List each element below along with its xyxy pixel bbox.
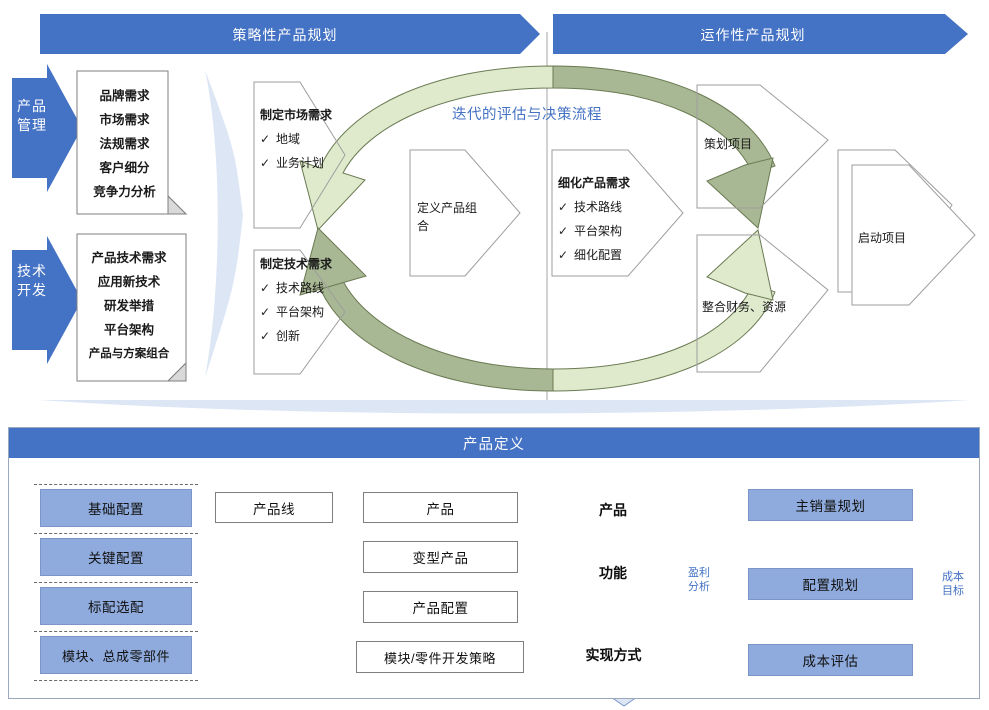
chevron-define-market-req-item-2: ✓业务计划 <box>260 151 332 175</box>
check-icon: ✓ <box>260 127 276 151</box>
chevron-launch-project-text: 启动项目 <box>858 229 906 247</box>
check-icon: ✓ <box>260 151 276 175</box>
chevron-detail-product-req-heading: 细化产品需求 <box>558 176 630 190</box>
check-icon: ✓ <box>558 219 574 243</box>
config-box-standard-optional[interactable]: 标配选配 <box>40 587 192 625</box>
cycle-side-label-profit-line-1: 盈利 <box>682 566 716 580</box>
check-icon: ✓ <box>558 243 574 267</box>
check-icon: ✓ <box>260 276 276 300</box>
tree-box-module-strategy-label: 模块/零件开发策略 <box>384 648 496 667</box>
note-card-1-line-3: 法规需求 <box>77 132 172 156</box>
tree-box-variant-product[interactable]: 变型产品 <box>363 541 518 573</box>
note-card-2-line-2: 应用新技术 <box>73 270 185 294</box>
chevron-define-market-req-item-1: ✓地域 <box>260 127 332 151</box>
product-definition-title: 产品定义 <box>463 433 525 454</box>
chevron-launch-project-back <box>838 150 952 292</box>
cycle-box-cost-assessment[interactable]: 成本评估 <box>748 644 913 676</box>
cycle-box-config-plan[interactable]: 配置规划 <box>748 568 913 600</box>
tree-box-product-config-label: 产品配置 <box>413 597 469 617</box>
cycle-side-label-cost-target-line-1: 成本 <box>936 570 970 584</box>
chevron-define-tech-req-heading: 制定技术需求 <box>260 257 332 271</box>
config-box-modules[interactable]: 模块、总成零部件 <box>40 636 192 674</box>
note-card-1-line-4: 客户细分 <box>77 156 172 180</box>
tree-box-product-config[interactable]: 产品配置 <box>363 591 518 623</box>
note-card-2-line-3: 研发举措 <box>73 294 185 318</box>
cycle-side-label-cost-target-line-2: 目标 <box>936 584 970 598</box>
funnel-label-function: 功能 <box>564 563 662 583</box>
cycle-box-sales-volume-plan[interactable]: 主销量规划 <box>748 489 913 521</box>
chevron-define-portfolio-line-2: 合 <box>417 217 477 235</box>
tree-box-product-line[interactable]: 产品线 <box>215 492 333 523</box>
tree-box-product-label: 产品 <box>427 498 455 518</box>
chevron-integrate-finance-text: 整合财务、资源 <box>702 298 786 316</box>
funnel-label-product: 产品 <box>564 500 662 520</box>
config-box-key-label: 关键配置 <box>88 547 144 567</box>
banner-label-operational: 运作性产品规划 <box>553 25 953 45</box>
chevron-detail-product-req-item-1: ✓技术路线 <box>558 195 630 219</box>
chevron-detail-product-req-text: 细化产品需求 ✓技术路线 ✓平台架构 ✓细化配置 <box>558 171 630 267</box>
section-separator-lens <box>40 400 970 414</box>
cycle-box-config-plan-label: 配置规划 <box>803 574 859 594</box>
chevron-define-tech-req-item-3: ✓创新 <box>260 324 332 348</box>
cycle-side-label-cost-target: 成本 目标 <box>936 570 970 598</box>
config-divider-3 <box>34 631 198 632</box>
funnel-label-realization: 实现方式 <box>556 645 671 665</box>
config-divider-top <box>34 484 198 485</box>
chevron-define-tech-req-item-1: ✓技术路线 <box>260 276 332 300</box>
chevron-detail-product-req-item-2: ✓平台架构 <box>558 219 630 243</box>
tree-box-product[interactable]: 产品 <box>363 492 518 523</box>
cycle-box-cost-assessment-label: 成本评估 <box>803 650 859 670</box>
note-card-2-line-5: 产品与方案组合 <box>68 342 190 366</box>
config-divider-bottom <box>34 680 198 681</box>
tree-box-module-strategy[interactable]: 模块/零件开发策略 <box>356 641 524 673</box>
chevron-define-market-req-text: 制定市场需求 ✓地域 ✓业务计划 <box>260 103 332 175</box>
cycle-box-sales-volume-plan-label: 主销量规划 <box>796 495 866 515</box>
tree-box-product-line-label: 产品线 <box>253 498 295 518</box>
note-card-2-line-1: 产品技术需求 <box>73 246 185 270</box>
cycle-arc-upper-right-head <box>707 158 773 228</box>
lane-label-product-management: 产品管理 <box>14 97 50 135</box>
chevron-define-portfolio-text: 定义产品组 合 <box>417 199 477 235</box>
config-box-basic-label: 基础配置 <box>88 498 144 518</box>
note-card-1-line-1: 品牌需求 <box>77 84 172 108</box>
note-card-2-line-4: 平台架构 <box>73 318 185 342</box>
check-icon: ✓ <box>260 324 276 348</box>
cycle-side-label-profit-line-2: 分析 <box>682 580 716 594</box>
config-box-modules-label: 模块、总成零部件 <box>62 646 170 665</box>
product-definition-header: 产品定义 <box>9 428 979 458</box>
transition-lens-shape <box>205 70 243 378</box>
chevron-define-portfolio-line-1: 定义产品组 <box>417 199 477 217</box>
note-card-1-line-5: 竞争力分析 <box>77 180 172 204</box>
chevron-detail-product-req-item-3: ✓细化配置 <box>558 243 630 267</box>
config-box-standard-optional-label: 标配选配 <box>88 596 144 616</box>
config-box-key[interactable]: 关键配置 <box>40 538 192 576</box>
check-icon: ✓ <box>558 195 574 219</box>
chevron-define-tech-req-item-2: ✓平台架构 <box>260 300 332 324</box>
cycle-arc-lower-right-head <box>707 230 773 300</box>
config-box-basic[interactable]: 基础配置 <box>40 489 192 527</box>
tree-box-variant-product-label: 变型产品 <box>413 547 469 567</box>
check-icon: ✓ <box>260 300 276 324</box>
chevron-define-tech-req-text: 制定技术需求 ✓技术路线 ✓平台架构 ✓创新 <box>260 252 332 348</box>
cycle-side-label-profit: 盈利 分析 <box>682 566 716 594</box>
cycle-arc-lower-left <box>320 281 553 391</box>
chevron-plan-project-text: 策划项目 <box>704 135 752 153</box>
config-divider-2 <box>34 582 198 583</box>
lane-label-technology-development: 技术开发 <box>14 262 50 300</box>
cycle-title: 迭代的评估与决策流程 <box>452 103 602 124</box>
config-divider-1 <box>34 533 198 534</box>
note-card-1-line-2: 市场需求 <box>77 108 172 132</box>
banner-label-strategic: 策略性产品规划 <box>40 25 530 45</box>
chevron-define-market-req-heading: 制定市场需求 <box>260 108 332 122</box>
